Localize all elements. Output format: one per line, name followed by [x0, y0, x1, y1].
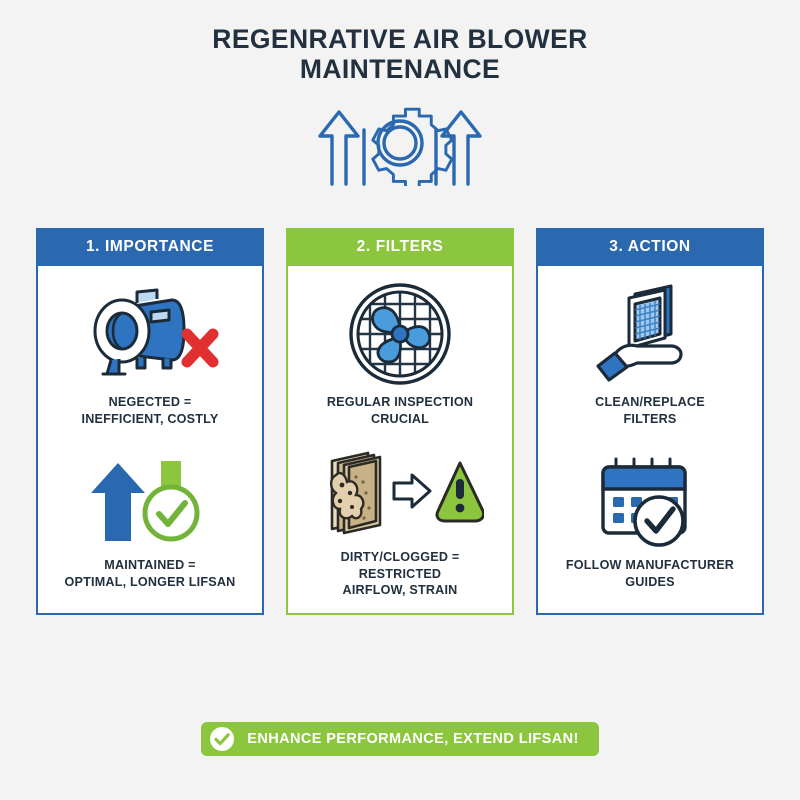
list-item-caption: NEGECTED = INEFFICIENT, COSTLY — [82, 394, 219, 427]
column-body-filters: REGULAR INSPECTION CRUCIAL — [286, 266, 514, 615]
status-badge: ENHANCE PERFORMANCE, EXTEND LIFSAN! — [201, 722, 598, 756]
list-item-caption: CLEAN/REPLACE FILTERS — [595, 394, 705, 427]
list-item: NEGECTED = INEFFICIENT, COSTLY — [48, 282, 252, 427]
calendar-with-check-icon — [591, 453, 709, 549]
hand-holding-filter-icon — [585, 282, 715, 386]
dirty-filter-warning-icon — [316, 445, 484, 541]
column-filters: 2. FILTERS — [286, 228, 514, 615]
page-title-line-1: REGENRATIVE AIR BLOWER — [0, 24, 800, 54]
blower-with-red-x-icon — [79, 282, 221, 386]
check-circle-icon — [209, 726, 235, 752]
infographic-page: REGENRATIVE AIR BLOWER MAINTENANCE 1. IM… — [0, 0, 800, 800]
column-header-action: 3. ACTION — [536, 228, 764, 266]
up-arrow-with-green-check-icon — [87, 453, 213, 549]
column-action: 3. ACTION — [536, 228, 764, 615]
list-item-caption: FOLLOW MANUFACTURER GUIDES — [566, 557, 734, 590]
list-item-caption: MAINTAINED = OPTIMAL, LONGER LIFSAN — [65, 557, 236, 590]
column-importance: 1. IMPORTANCE — [36, 228, 264, 615]
list-item: DIRTY/CLOGGED = RESTRICTED AIRFLOW, STRA… — [298, 445, 502, 599]
list-item: MAINTAINED = OPTIMAL, LONGER LIFSAN — [48, 453, 252, 590]
column-body-action: CLEAN/REPLACE FILTERS — [536, 266, 764, 615]
list-item: FOLLOW MANUFACTURER GUIDES — [548, 453, 752, 590]
page-title: REGENRATIVE AIR BLOWER MAINTENANCE — [0, 0, 800, 84]
footer-banner-container: ENHANCE PERFORMANCE, EXTEND LIFSAN! — [0, 722, 800, 756]
page-title-line-2: MAINTENANCE — [0, 54, 800, 84]
list-item: CLEAN/REPLACE FILTERS — [548, 282, 752, 427]
footer-banner-text: ENHANCE PERFORMANCE, EXTEND LIFSAN! — [247, 731, 578, 747]
column-body-importance: NEGECTED = INEFFICIENT, COSTLY — [36, 266, 264, 615]
list-item: REGULAR INSPECTION CRUCIAL — [298, 282, 502, 427]
fan-in-circle-icon — [348, 282, 452, 386]
column-header-filters: 2. FILTERS — [286, 228, 514, 266]
columns-container: 1. IMPORTANCE — [0, 228, 800, 615]
list-item-caption: DIRTY/CLOGGED = RESTRICTED AIRFLOW, STRA… — [341, 549, 460, 599]
column-header-importance: 1. IMPORTANCE — [36, 228, 264, 266]
gear-with-up-arrows-icon — [0, 98, 800, 188]
list-item-caption: REGULAR INSPECTION CRUCIAL — [327, 394, 473, 427]
